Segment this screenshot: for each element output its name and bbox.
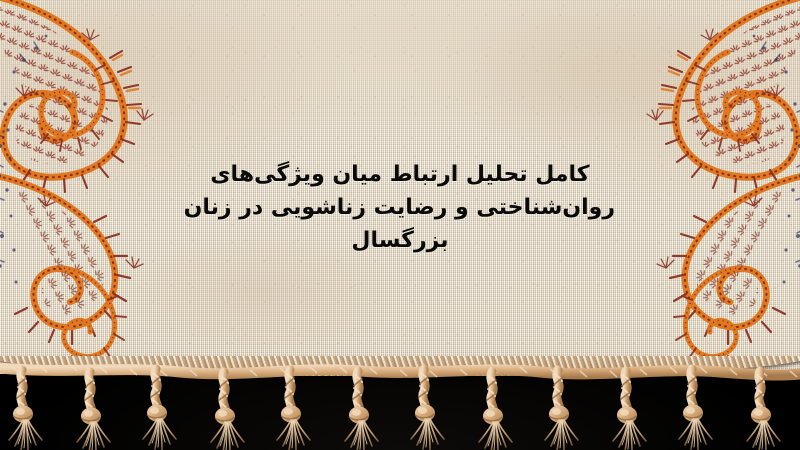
title-line-1: کامل تحلیل ارتباط میان ویژگی‌های — [185, 158, 615, 191]
slide-canvas: کامل تحلیل ارتباط میان ویژگی‌های روان‌شن… — [0, 0, 800, 450]
title-line-2: روان‌شناختی و رضایت زناشویی در زنان — [185, 191, 615, 224]
title-line-3: بزرگسال — [185, 224, 615, 257]
slide-title: کامل تحلیل ارتباط میان ویژگی‌های روان‌شن… — [185, 158, 615, 257]
